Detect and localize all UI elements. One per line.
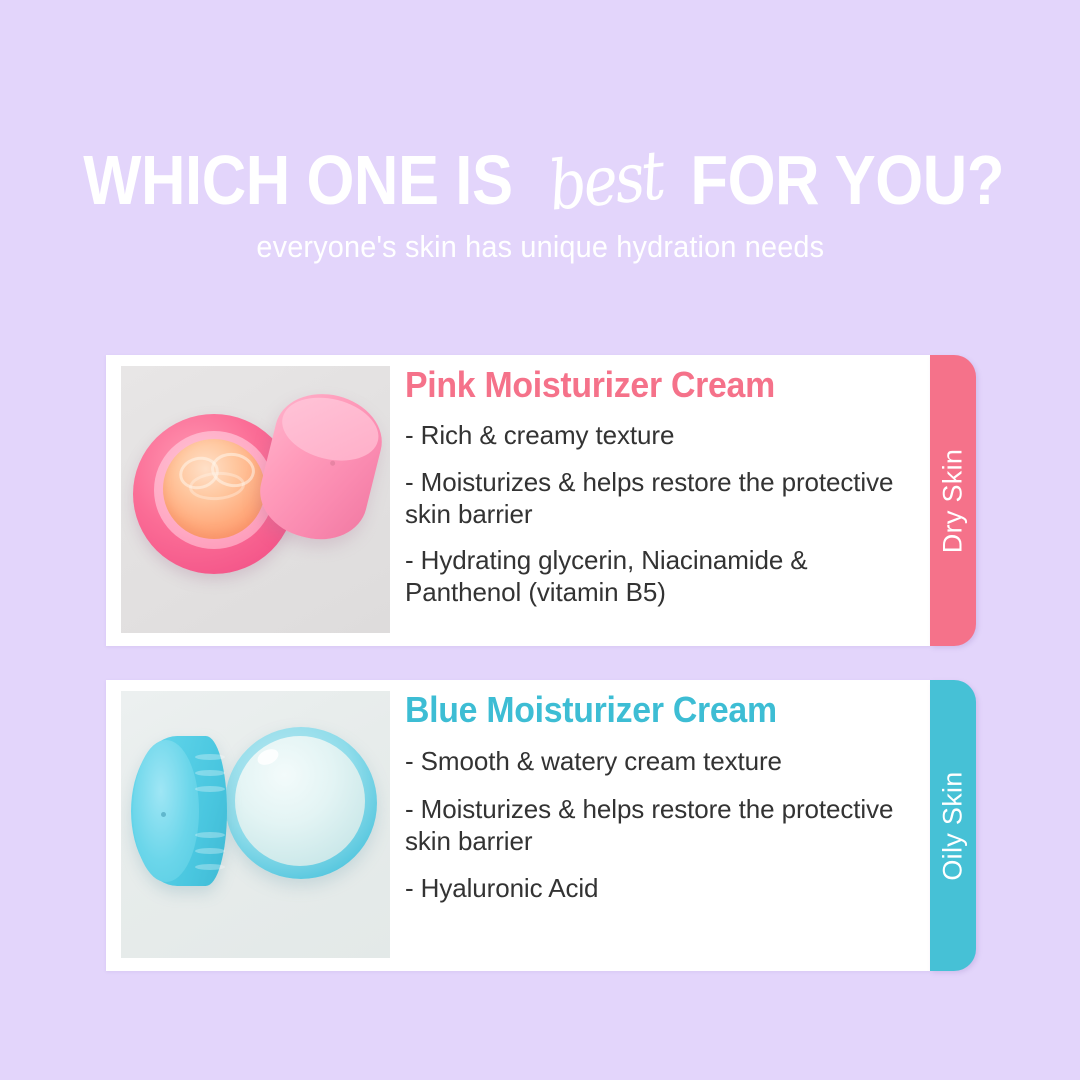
lid-ridge-icon [195,754,225,760]
cream-gloss-icon [255,746,281,768]
product-title-pink: Pink Moisturizer Cream [405,365,914,405]
product-features-blue: - Smooth & watery cream texture - Moistu… [405,746,914,905]
pink-cream-icon [163,439,265,539]
pink-lid-top-icon [276,388,386,470]
feature-item: - Smooth & watery cream texture [405,746,914,778]
product-title-blue-text: Blue Moisturizer Cream [405,690,777,730]
lid-ridge-icon [195,770,225,776]
product-card-blue[interactable]: Blue Moisturizer Cream - Smooth & watery… [106,680,930,971]
lid-ridge-icon [195,848,225,854]
product-title-pink-text: Pink Moisturizer Cream [405,365,775,405]
product-content-pink: Pink Moisturizer Cream - Rich & creamy t… [405,365,914,609]
product-features-pink: - Rich & creamy texture - Moisturizes & … [405,420,914,609]
lid-ridge-icon [195,786,225,792]
blue-jar-body-icon [225,727,377,879]
skin-type-tab-dry[interactable]: Dry Skin [930,355,976,646]
product-title-blue: Blue Moisturizer Cream [405,690,914,730]
lid-ridge-icon [195,832,225,838]
product-image-pink [121,366,390,633]
product-image-blue [121,691,390,958]
blue-lid-dot-icon [161,812,166,817]
pink-jar-photo [121,366,390,633]
feature-item: - Hyaluronic Acid [405,873,914,905]
feature-item: - Moisturizes & helps restore the protec… [405,794,914,857]
skin-type-tab-oily[interactable]: Oily Skin [930,680,976,971]
lid-ridge-icon [195,864,225,870]
feature-item: - Moisturizes & helps restore the protec… [405,467,914,530]
page-subtitle-text: everyone's skin has unique hydration nee… [256,229,824,265]
blue-lid-face-icon [133,740,199,882]
pink-jar-rim-icon [154,431,274,549]
page-subtitle: everyone's skin has unique hydration nee… [0,229,1080,265]
headline-part-2: FOR YOU? [691,138,1005,222]
product-card-pink[interactable]: Pink Moisturizer Cream - Rich & creamy t… [106,355,930,646]
pink-lid-dot-icon [330,460,336,466]
skin-type-tab-dry-label: Dry Skin [938,448,969,552]
feature-item: - Hydrating glycerin, Niacinamide & Pant… [405,545,914,608]
headline-script-word: best [541,133,670,229]
feature-item: - Rich & creamy texture [405,420,914,452]
product-content-blue: Blue Moisturizer Cream - Smooth & watery… [405,690,914,905]
page-title: WHICH ONE ISbestFOR YOU? [0,132,1080,216]
blue-jar-photo [121,691,390,958]
headline-part-1: WHICH ONE IS [83,138,512,222]
skin-type-tab-oily-label: Oily Skin [938,771,969,880]
blue-cream-icon [235,736,365,866]
blue-jar-lid-icon [131,736,227,886]
